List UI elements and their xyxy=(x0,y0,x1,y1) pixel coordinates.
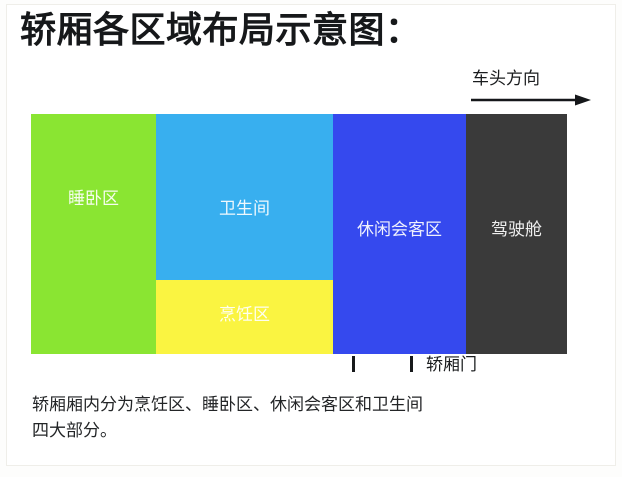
zone-label-cockpit: 驾驶舱 xyxy=(466,220,567,240)
cabin-door-label: 轿厢门 xyxy=(426,356,477,375)
cabin-layout-diagram: 睡卧区 卫生间 烹饪区 休闲会客区 驾驶舱 xyxy=(31,114,567,354)
caption: 轿厢厢内分为烹饪区、睡卧区、休闲会客区和卫生间 四大部分。 xyxy=(32,392,592,444)
zone-label-sleeping-area: 睡卧区 xyxy=(31,189,156,209)
page-title: 轿厢各区域布局示意图： xyxy=(20,10,422,52)
zone-sleeping-area[interactable]: 睡卧区 xyxy=(31,114,156,354)
zone-bathroom[interactable]: 卫生间 xyxy=(156,114,333,280)
arrow-right-icon xyxy=(471,94,591,106)
zone-label-bathroom: 卫生间 xyxy=(156,199,333,219)
cabin-door-annotation: 轿厢门 xyxy=(348,356,588,386)
door-tick-icon xyxy=(352,356,355,372)
front-direction-annotation: 车头方向 xyxy=(468,70,592,110)
screenshot-canvas: 轿厢各区域布局示意图： 车头方向 睡卧区 卫生间 烹饪区 休闲会客区 驾驶舱 轿… xyxy=(0,0,622,477)
door-tick-icon xyxy=(410,356,413,372)
front-direction-label: 车头方向 xyxy=(472,70,540,89)
zone-lounge-area[interactable]: 休闲会客区 xyxy=(333,114,466,354)
caption-line-2: 四大部分。 xyxy=(32,418,592,444)
zone-cockpit[interactable]: 驾驶舱 xyxy=(466,114,567,354)
caption-line-1: 轿厢厢内分为烹饪区、睡卧区、休闲会客区和卫生间 xyxy=(32,392,592,418)
zone-label-cooking-area: 烹饪区 xyxy=(156,305,333,325)
zone-label-lounge-area: 休闲会客区 xyxy=(333,220,466,240)
zone-cooking-area[interactable]: 烹饪区 xyxy=(156,280,333,354)
